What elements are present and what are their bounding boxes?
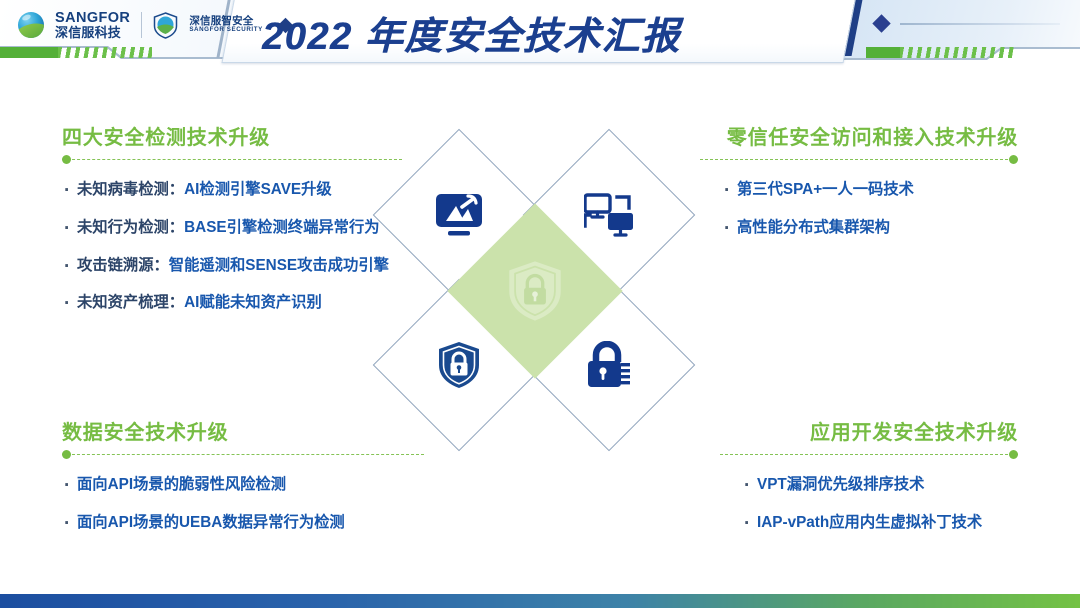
section-app-dev: 应用开发安全技术升级 VPT漏洞优先级排序技术 IAP-vPath应用内生虚拟补… <box>720 421 1018 552</box>
bullet-value: 第三代SPA+一人一码技术 <box>737 181 914 198</box>
section-data-security-list: 面向API场景的脆弱性风险检测 面向API场景的UEBA数据异常行为检测 <box>62 473 424 536</box>
page-title: 2022 年度安全技术汇报 <box>262 4 842 60</box>
bullet-value: 智能遥测和SENSE攻击成功引擎 <box>169 257 389 274</box>
logo-secondary-en: SANGFOR SECURITY <box>189 27 263 34</box>
rule-knob <box>1009 450 1018 459</box>
section-zero-trust-title: 零信任安全访问和接入技术升级 <box>700 126 1018 150</box>
logo-primary-cn: 深信服科技 <box>55 26 130 39</box>
list-item: VPT漏洞优先级排序技术 <box>742 473 1018 498</box>
dashed-line <box>62 454 424 455</box>
globe-logo-icon <box>18 12 44 38</box>
section-zero-trust-list: 第三代SPA+一人一码技术 高性能分布式集群架构 <box>722 178 1018 241</box>
bullet-label: 未知资产梳理： <box>77 294 184 311</box>
shield-lock-icon <box>438 341 480 389</box>
bullet-value: VPT漏洞优先级排序技术 <box>757 476 924 493</box>
section-app-dev-list: VPT漏洞优先级排序技术 IAP-vPath应用内生虚拟补丁技术 <box>742 473 1018 536</box>
monitor-mining-icon <box>435 193 483 237</box>
stripe-bars <box>58 47 152 58</box>
footer-gradient-bar <box>0 594 1080 608</box>
bullet-label: 未知病毒检测： <box>77 181 184 198</box>
rule-knob <box>62 155 71 164</box>
list-item: 攻击链溯源：智能遥测和SENSE攻击成功引擎 <box>62 254 402 279</box>
list-item: 高性能分布式集群架构 <box>722 216 1018 241</box>
logo-diamond-icon <box>278 17 294 33</box>
header-accent-line <box>900 23 1060 25</box>
dashed-line <box>700 159 1018 160</box>
dashed-line <box>62 159 402 160</box>
section-detection: 四大安全检测技术升级 未知病毒检测：AI检测引擎SAVE升级 未知行为检测：BA… <box>62 126 402 332</box>
section-detection-title: 四大安全检测技术升级 <box>62 126 402 150</box>
logo-divider <box>141 12 142 38</box>
bullet-value: 高性能分布式集群架构 <box>737 219 890 236</box>
header-stripes-right <box>866 47 1016 58</box>
list-item: 未知病毒检测：AI检测引擎SAVE升级 <box>62 178 402 203</box>
logo-primary-text: SANGFOR 深信服科技 <box>55 11 130 39</box>
padlock-icon <box>586 341 632 389</box>
bullet-value: 面向API场景的UEBA数据异常行为检测 <box>77 514 345 531</box>
bullet-value: IAP-vPath应用内生虚拟补丁技术 <box>757 514 982 531</box>
section-zero-trust-rule <box>700 155 1018 164</box>
list-item: 第三代SPA+一人一码技术 <box>722 178 1018 203</box>
stripe-solid <box>866 47 900 58</box>
rule-knob <box>1009 155 1018 164</box>
stripe-solid <box>0 47 58 58</box>
slide-canvas: 2022 年度安全技术汇报 SANGFOR 深信服科技 深信服智安全 SANGF… <box>0 0 1080 608</box>
shield-lock-watermark-icon <box>508 260 562 322</box>
bullet-value: BASE引擎检测终端异常行为 <box>184 219 379 236</box>
logo-primary-en: SANGFOR <box>55 11 130 26</box>
list-item: 面向API场景的脆弱性风险检测 <box>62 473 424 498</box>
section-data-security-title: 数据安全技术升级 <box>62 421 424 445</box>
list-item: 未知行为检测：BASE引擎检测终端异常行为 <box>62 216 402 241</box>
list-item: 面向API场景的UEBA数据异常行为检测 <box>62 511 424 536</box>
shield-logo-icon <box>153 12 178 39</box>
section-zero-trust: 零信任安全访问和接入技术升级 第三代SPA+一人一码技术 高性能分布式集群架构 <box>700 126 1018 257</box>
center-diamond-graphic <box>392 150 692 450</box>
header-stripes-left <box>0 47 152 58</box>
section-detection-list: 未知病毒检测：AI检测引擎SAVE升级 未知行为检测：BASE引擎检测终端异常行… <box>62 178 402 316</box>
list-item: 未知资产梳理：AI赋能未知资产识别 <box>62 291 402 316</box>
list-item: IAP-vPath应用内生虚拟补丁技术 <box>742 511 1018 536</box>
bullet-label: 未知行为检测： <box>77 219 184 236</box>
stripe-bars <box>900 47 1016 58</box>
slide-header: 2022 年度安全技术汇报 SANGFOR 深信服科技 深信服智安全 SANGF… <box>0 0 1080 72</box>
logo-secondary-text: 深信服智安全 SANGFOR SECURITY <box>189 16 263 34</box>
section-data-security-rule <box>62 450 424 459</box>
rule-knob <box>62 450 71 459</box>
bullet-label: 攻击链溯源： <box>77 257 169 274</box>
dashed-line <box>720 454 1018 455</box>
bullet-value: AI检测引擎SAVE升级 <box>184 181 332 198</box>
section-app-dev-title: 应用开发安全技术升级 <box>720 421 1018 445</box>
logo-zone: SANGFOR 深信服科技 深信服智安全 SANGFOR SECURITY <box>18 8 291 42</box>
section-detection-rule <box>62 155 402 164</box>
section-data-security: 数据安全技术升级 面向API场景的脆弱性风险检测 面向API场景的UEBA数据异… <box>62 421 424 552</box>
bullet-value: 面向API场景的脆弱性风险检测 <box>77 476 286 493</box>
section-app-dev-rule <box>720 450 1018 459</box>
bullet-value: AI赋能未知资产识别 <box>184 294 322 311</box>
networked-computers-icon <box>584 193 634 237</box>
